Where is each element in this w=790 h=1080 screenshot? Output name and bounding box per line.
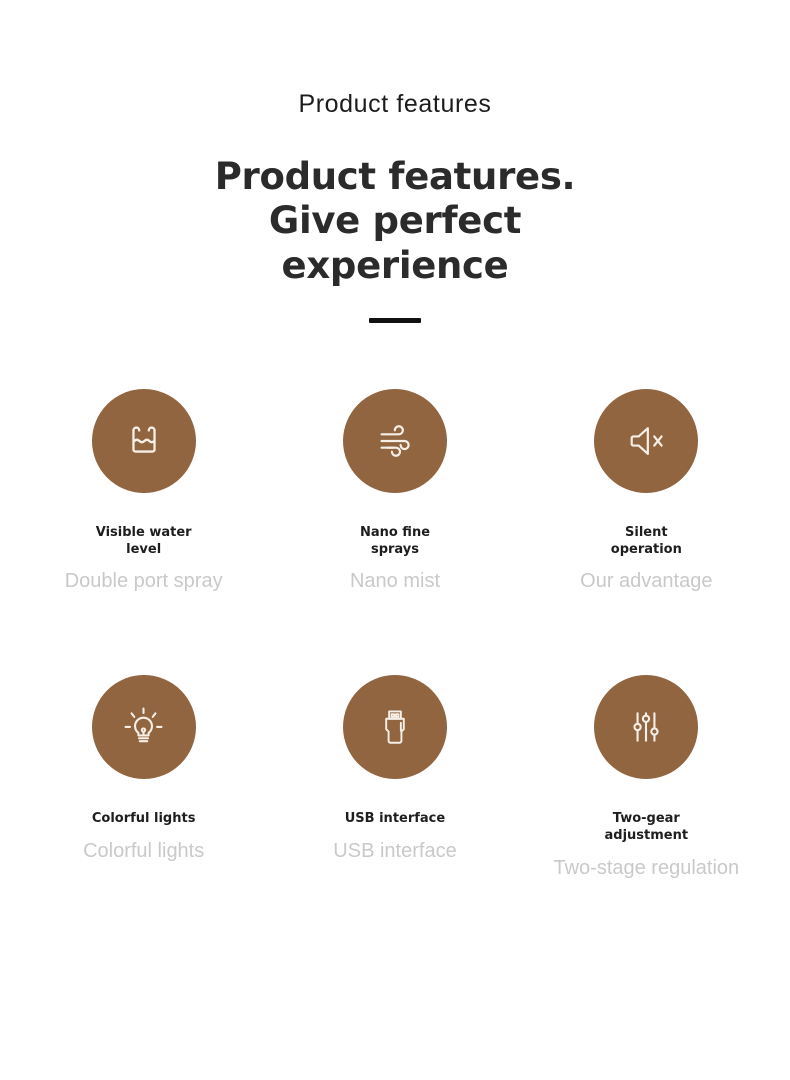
headline-line-3: experience bbox=[0, 244, 790, 288]
feature-item[interactable]: Nano fine sprays Nano mist bbox=[269, 389, 520, 593]
usb-drive-icon bbox=[373, 705, 417, 749]
title-divider bbox=[369, 318, 421, 323]
feature-icon-badge bbox=[343, 389, 447, 493]
feature-item[interactable]: Colorful lights Colorful lights bbox=[18, 675, 269, 879]
feature-icon-badge bbox=[594, 389, 698, 493]
feature-title: Silent operation bbox=[590, 525, 702, 558]
feature-title: Visible water level bbox=[88, 525, 200, 558]
page-header: Product features Product features. Give … bbox=[0, 0, 790, 323]
feature-item[interactable]: Two-gear adjustment Two-stage regulation bbox=[521, 675, 772, 879]
feature-title: Colorful lights bbox=[92, 811, 196, 828]
headline-line-1: Product features. bbox=[0, 155, 790, 199]
feature-icon-badge bbox=[92, 389, 196, 493]
water-level-icon bbox=[121, 418, 167, 464]
feature-subtitle: USB interface bbox=[333, 839, 456, 863]
feature-grid: Visible water level Double port spray Na… bbox=[0, 389, 790, 880]
wind-flow-icon bbox=[372, 418, 418, 464]
sliders-icon bbox=[624, 705, 668, 749]
feature-item[interactable]: Silent operation Our advantage bbox=[521, 389, 772, 593]
feature-subtitle: Two-stage regulation bbox=[553, 856, 739, 880]
feature-icon-badge bbox=[594, 675, 698, 779]
feature-icon-badge bbox=[92, 675, 196, 779]
feature-subtitle: Colorful lights bbox=[83, 839, 204, 863]
page-title: Product features. Give perfect experienc… bbox=[0, 117, 790, 288]
lightbulb-icon bbox=[120, 704, 167, 751]
feature-subtitle: Double port spray bbox=[65, 569, 223, 593]
feature-item[interactable]: Visible water level Double port spray bbox=[18, 389, 269, 593]
eyebrow-text: Product features bbox=[0, 92, 790, 117]
feature-icon-badge bbox=[343, 675, 447, 779]
feature-title: Nano fine sprays bbox=[339, 525, 451, 558]
feature-subtitle: Nano mist bbox=[350, 569, 440, 593]
divider-container bbox=[0, 288, 790, 323]
speaker-mute-icon bbox=[624, 419, 668, 463]
feature-title: USB interface bbox=[345, 811, 445, 828]
product-features-page: Product features Product features. Give … bbox=[0, 0, 790, 1080]
headline-line-2: Give perfect bbox=[0, 199, 790, 243]
feature-subtitle: Our advantage bbox=[580, 569, 712, 593]
feature-item[interactable]: USB interface USB interface bbox=[269, 675, 520, 879]
feature-title: Two-gear adjustment bbox=[590, 811, 702, 844]
